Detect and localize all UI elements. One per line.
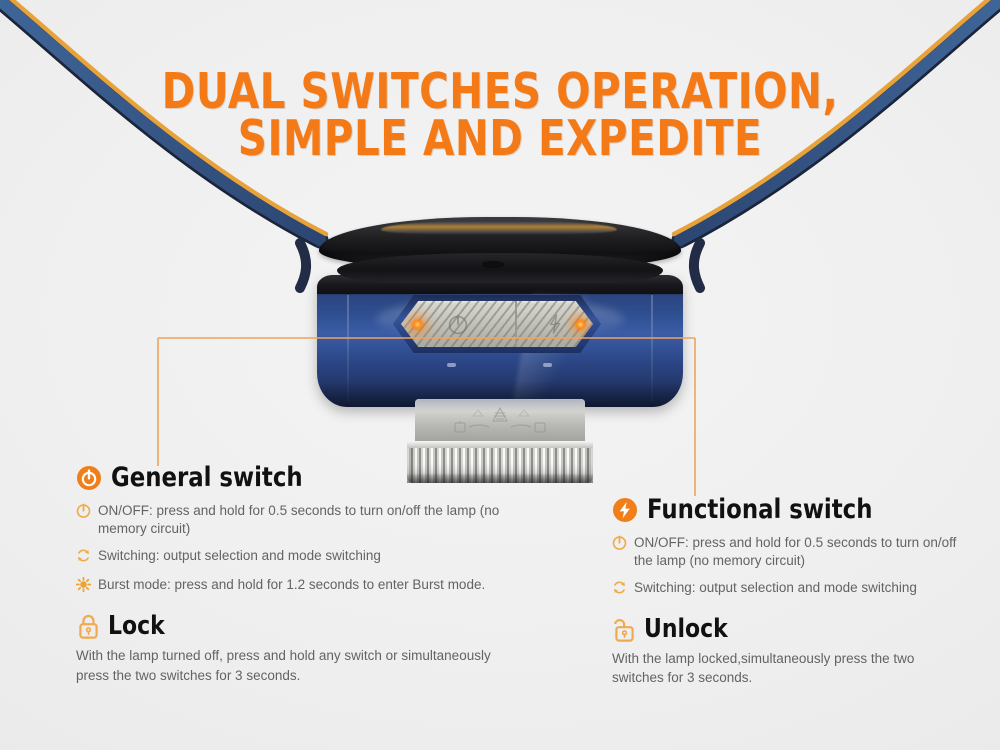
- functional-switch-bullets: ON/OFF: press and hold for 0.5 seconds t…: [612, 534, 992, 600]
- lock-description: With the lamp turned off, press and hold…: [76, 646, 516, 684]
- list-item: Burst mode: press and hold for 1.2 secon…: [76, 576, 546, 597]
- list-item: ON/OFF: press and hold for 0.5 seconds t…: [612, 534, 972, 571]
- power-icon: [612, 535, 627, 555]
- unlock-heading: Unlock: [612, 614, 992, 644]
- general-switch-heading-text: General switch: [111, 462, 303, 493]
- unlock-heading-text: Unlock: [644, 614, 728, 644]
- functional-switch-heading: Functional switch: [612, 494, 992, 525]
- padlock-closed-icon: [76, 613, 101, 640]
- lock-heading: Lock: [76, 611, 546, 641]
- list-item: ON/OFF: press and hold for 0.5 seconds t…: [76, 502, 546, 539]
- list-item-text: ON/OFF: press and hold for 0.5 seconds t…: [98, 502, 546, 539]
- power-circle-icon: [76, 465, 102, 491]
- lock-heading-text: Lock: [108, 611, 165, 641]
- power-icon: [76, 503, 91, 523]
- refresh-icon: [76, 548, 91, 568]
- infographic-canvas: DUAL SWITCHES OPERATION, SIMPLE AND EXPE…: [0, 0, 1000, 750]
- title-line-2: SIMPLE AND EXPEDITE: [40, 115, 960, 162]
- unlock-block: Unlock With the lamp locked,simultaneous…: [612, 614, 992, 687]
- list-item-text: Switching: output selection and mode swi…: [98, 547, 381, 565]
- general-switch-heading: General switch: [76, 462, 546, 493]
- title-line-1: DUAL SWITCHES OPERATION,: [40, 68, 960, 115]
- general-switch-column: General switch ON/OFF: press and hold fo…: [76, 462, 546, 685]
- page-title: DUAL SWITCHES OPERATION, SIMPLE AND EXPE…: [0, 68, 1000, 162]
- burst-sun-icon: [76, 577, 91, 597]
- padlock-open-icon: [612, 616, 637, 643]
- functional-switch-column: Functional switch ON/OFF: press and hold…: [612, 494, 992, 687]
- list-item: Switching: output selection and mode swi…: [76, 547, 546, 568]
- functional-switch-heading-text: Functional switch: [647, 494, 872, 525]
- refresh-icon: [612, 580, 627, 600]
- list-item-text: ON/OFF: press and hold for 0.5 seconds t…: [634, 534, 972, 571]
- lock-block: Lock With the lamp turned off, press and…: [76, 611, 546, 684]
- bolt-circle-icon: [612, 497, 638, 523]
- general-switch-bullets: ON/OFF: press and hold for 0.5 seconds t…: [76, 502, 546, 597]
- list-item-text: Switching: output selection and mode swi…: [634, 579, 917, 597]
- unlock-description: With the lamp locked,simultaneously pres…: [612, 649, 942, 687]
- list-item: Switching: output selection and mode swi…: [612, 579, 972, 600]
- list-item-text: Burst mode: press and hold for 1.2 secon…: [98, 576, 485, 594]
